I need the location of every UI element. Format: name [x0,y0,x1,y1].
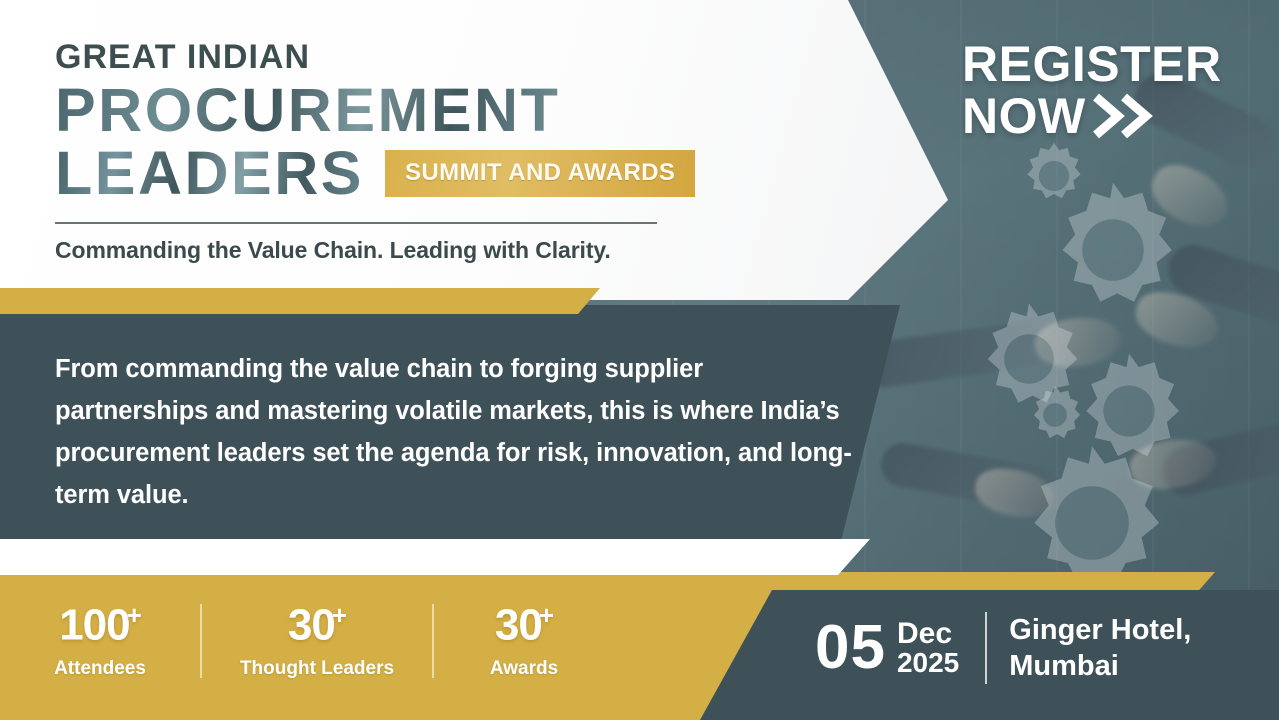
gear-icon-large-upper [1043,180,1183,320]
gold-accent-strip [0,288,600,314]
stat-thought-leaders: 30+ Thought Leaders [202,602,432,681]
event-banner: GREAT INDIAN PROCUREMENT LEADERS SUMMIT … [0,0,1279,720]
event-day: 05 [815,617,886,679]
stat-value: 30+ [434,602,614,648]
register-line-2-row: NOW [962,90,1222,142]
stat-value: 30+ [202,602,432,648]
brand-tagline: Commanding the Value Chain. Leading with… [55,237,695,264]
register-line-1: REGISTER [962,38,1222,90]
logo-divider-rule [55,222,657,224]
summit-awards-badge: SUMMIT AND AWARDS [385,150,695,197]
double-chevron-right-icon [1092,93,1156,139]
event-month-year: Dec 2025 [897,619,959,678]
stat-label: Attendees [0,658,200,680]
white-separator-band [0,539,870,575]
brand-line-procurement: PROCUREMENT [55,80,695,141]
stat-label: Awards [434,658,614,680]
event-year: 2025 [897,649,959,678]
stat-value: 100+ [0,602,200,648]
event-logo: GREAT INDIAN PROCUREMENT LEADERS SUMMIT … [55,40,695,264]
event-venue: Ginger Hotel, Mumbai [1009,612,1259,685]
stat-attendees: 100+ Attendees [0,602,200,681]
stat-awards: 30+ Awards [434,602,614,681]
stat-plus-suffix: + [127,600,141,630]
brand-leaders-row: LEADERS SUMMIT AND AWARDS [55,143,695,204]
stat-plus-suffix: + [332,600,346,630]
brand-line-leaders: LEADERS [55,143,364,204]
stat-plus-suffix: + [539,600,553,630]
stat-label: Thought Leaders [202,658,432,680]
register-line-2: NOW [962,90,1086,142]
brand-line-great-indian: GREAT INDIAN [55,40,695,76]
stats-row: 100+ Attendees 30+ Thought Leaders 30+ A… [0,586,720,696]
description-text: From commanding the value chain to forgi… [55,348,855,516]
event-date-venue: 05 Dec 2025 Ginger Hotel, Mumbai [815,612,1259,685]
date-venue-divider [985,612,987,684]
event-month: Dec [897,619,959,650]
register-now-cta[interactable]: REGISTER NOW [962,38,1222,142]
